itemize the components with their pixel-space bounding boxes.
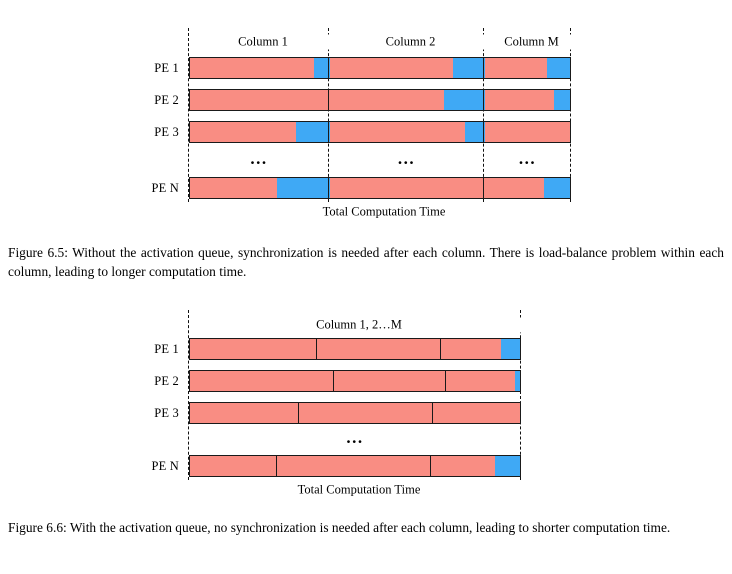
total-time-label: Total Computation Time xyxy=(189,483,529,498)
figure-6-5-caption: Figure 6.5: Without the activation queue… xyxy=(8,243,724,281)
column-header-arrow: Column 1 xyxy=(189,35,329,49)
column-header-arrow: Column M xyxy=(484,35,571,49)
column-header-label: Column 1, 2…M xyxy=(189,318,529,333)
pe-bar-row xyxy=(189,370,521,392)
bar-segment-red xyxy=(446,371,515,391)
pe-row-label-3: PE 3 xyxy=(117,406,179,421)
pe-bar-row xyxy=(189,338,521,360)
pe-bar-row xyxy=(189,177,571,199)
sync-guide-line xyxy=(483,28,484,202)
pe-row-label-3: PE 3 xyxy=(117,125,179,140)
bar-segment-red xyxy=(330,90,444,110)
ellipsis-row: ... xyxy=(484,150,571,167)
bar-segment-red xyxy=(330,122,465,142)
column-separator xyxy=(483,89,484,111)
pe-bar-row xyxy=(189,89,571,111)
column-header-label: Column 1 xyxy=(189,35,337,50)
bar-segment-red xyxy=(485,58,547,78)
figure-6-5-diagram: Column 1Column 2Column MPE 1PE 2PE 3PE N… xyxy=(0,0,732,232)
ellipsis-row: ... xyxy=(329,150,484,167)
ellipsis-row: ... xyxy=(189,150,329,167)
bar-segment-red xyxy=(330,58,453,78)
bar-segment-red xyxy=(299,403,433,423)
bar-segment-blue xyxy=(501,339,521,359)
column-header-arrow: Column 2 xyxy=(329,35,484,49)
pe-row-label-2: PE 2 xyxy=(117,93,179,108)
bar-segment-red xyxy=(330,178,485,198)
column-separator xyxy=(483,177,484,199)
bar-segment-red xyxy=(277,456,431,476)
pe-bar-row xyxy=(189,57,571,79)
bar-segment-blue xyxy=(547,58,571,78)
bar-segment-red xyxy=(190,403,299,423)
figure-6-5: Column 1Column 2Column MPE 1PE 2PE 3PE N… xyxy=(0,0,732,232)
sync-guide-line xyxy=(188,28,189,202)
column-header-label: Column 2 xyxy=(329,35,492,50)
bar-segment-blue xyxy=(544,178,571,198)
bar-segment-red xyxy=(317,339,441,359)
bar-segment-red xyxy=(190,58,314,78)
bar-segment-red xyxy=(433,403,521,423)
bar-segment-blue xyxy=(465,122,485,142)
bar-segment-red xyxy=(485,90,554,110)
bar-segment-red xyxy=(431,456,495,476)
pe-row-label-1: PE 1 xyxy=(117,342,179,357)
column-separator xyxy=(483,57,484,79)
pe-row-label-1: PE 1 xyxy=(117,61,179,76)
column-separator xyxy=(328,177,329,199)
total-time-label: Total Computation Time xyxy=(189,205,579,220)
pe-bar-row xyxy=(189,402,521,424)
figure-6-6: Column 1, 2…MPE 1PE 2PE 3PE N...Total Co… xyxy=(0,305,732,505)
bar-segment-red xyxy=(485,122,571,142)
column-header-label: Column M xyxy=(484,35,579,50)
bar-segment-red xyxy=(190,339,317,359)
column-separator xyxy=(328,57,329,79)
bar-segment-red xyxy=(190,178,277,198)
bar-segment-blue xyxy=(277,178,330,198)
column-header-arrow: Column 1, 2…M xyxy=(189,318,521,332)
bar-segment-blue xyxy=(515,371,521,391)
ellipsis-row: ... xyxy=(189,429,521,446)
figure-6-6-caption: Figure 6.6: With the activation queue, n… xyxy=(8,518,724,537)
total-time-arrow: Total Computation Time xyxy=(189,483,521,497)
bar-segment-red xyxy=(190,371,334,391)
pe-row-label-4: PE N xyxy=(117,181,179,196)
bar-segment-blue xyxy=(453,58,485,78)
pe-bar-row xyxy=(189,121,571,143)
bar-segment-blue xyxy=(554,90,571,110)
bar-segment-blue xyxy=(296,122,330,142)
bar-segment-red xyxy=(485,178,544,198)
pe-bar-row xyxy=(189,455,521,477)
bar-segment-blue xyxy=(444,90,485,110)
bar-segment-red xyxy=(190,456,277,476)
sync-guide-line xyxy=(328,28,329,202)
total-time-arrow: Total Computation Time xyxy=(189,205,571,219)
pe-row-label-2: PE 2 xyxy=(117,374,179,389)
pe-row-label-4: PE N xyxy=(117,459,179,474)
bar-segment-red xyxy=(441,339,501,359)
figure-6-6-diagram: Column 1, 2…MPE 1PE 2PE 3PE N...Total Co… xyxy=(0,305,732,505)
column-separator xyxy=(483,121,484,143)
sync-guide-line xyxy=(570,28,571,202)
bar-segment-red xyxy=(334,371,446,391)
column-separator xyxy=(328,89,329,111)
bar-segment-red xyxy=(190,122,296,142)
bar-segment-blue xyxy=(495,456,521,476)
bar-segment-red xyxy=(190,90,330,110)
column-separator xyxy=(328,121,329,143)
